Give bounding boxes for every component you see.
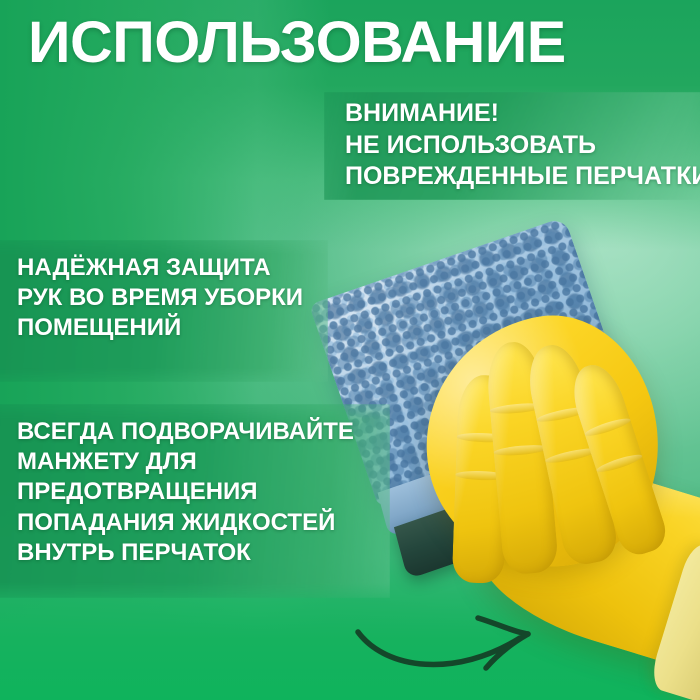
knuckle-crease bbox=[595, 452, 643, 475]
curved-arrow-icon bbox=[352, 612, 562, 690]
cuff-line-4: ПОПАДАНИЯ ЖИДКОСТЕЙ bbox=[17, 508, 354, 538]
protection-callout-text: НАДЁЖНАЯ ЗАЩИТА РУК ВО ВРЕМЯ УБОРКИ ПОМЕ… bbox=[17, 253, 303, 344]
attention-line-1: ВНИМАНИЕ! bbox=[345, 98, 700, 130]
knuckle-crease bbox=[493, 443, 549, 457]
cuff-callout-text: ВСЕГДА ПОДВОРАЧИВАЙТЕ МАНЖЕТУ ДЛЯ ПРЕДОТ… bbox=[17, 417, 354, 568]
cuff-line-3: ПРЕДОТВРАЩЕНИЯ bbox=[17, 477, 354, 507]
cuff-line-5: ВНУТРЬ ПЕРЧАТОК bbox=[17, 538, 354, 568]
attention-line-2: НЕ ИСПОЛЬЗОВАТЬ bbox=[345, 130, 700, 162]
attention-line-3: ПОВРЕЖДЕННЫЕ ПЕРЧАТКИ bbox=[345, 161, 700, 193]
cuff-line-1: ВСЕГДА ПОДВОРАЧИВАЙТЕ bbox=[17, 417, 354, 447]
page-title: ИСПОЛЬЗОВАНИЕ bbox=[28, 14, 566, 72]
knuckle-crease bbox=[583, 416, 631, 439]
poster-canvas: ИСПОЛЬЗОВАНИЕ ВНИМАНИЕ! НЕ ИСПОЛЬЗОВАТЬ … bbox=[0, 0, 700, 700]
protection-line-2: РУК ВО ВРЕМЯ УБОРКИ bbox=[17, 283, 303, 313]
attention-callout-text: ВНИМАНИЕ! НЕ ИСПОЛЬЗОВАТЬ ПОВРЕЖДЕННЫЕ П… bbox=[345, 98, 700, 193]
protection-line-1: НАДЁЖНАЯ ЗАЩИТА bbox=[17, 253, 303, 283]
cuff-line-2: МАНЖЕТУ ДЛЯ bbox=[17, 447, 354, 477]
protection-line-3: ПОМЕЩЕНИЙ bbox=[17, 313, 303, 343]
